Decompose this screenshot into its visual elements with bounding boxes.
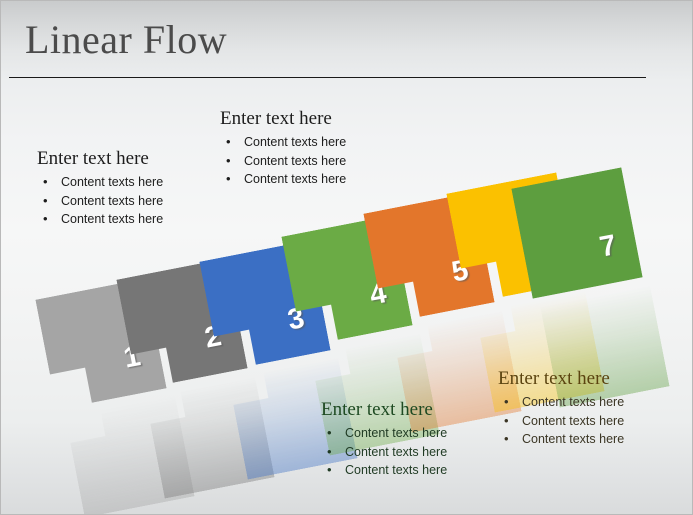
flow-step-face <box>511 167 642 298</box>
flow-step-shape[interactable]: 7 <box>511 167 642 298</box>
flow-step-7[interactable]: 7 <box>521 177 633 289</box>
linear-flow-diagram: 1234567 <box>1 1 693 515</box>
slide-canvas: Linear Flow 1234567 Enter text here •Con… <box>0 0 693 515</box>
